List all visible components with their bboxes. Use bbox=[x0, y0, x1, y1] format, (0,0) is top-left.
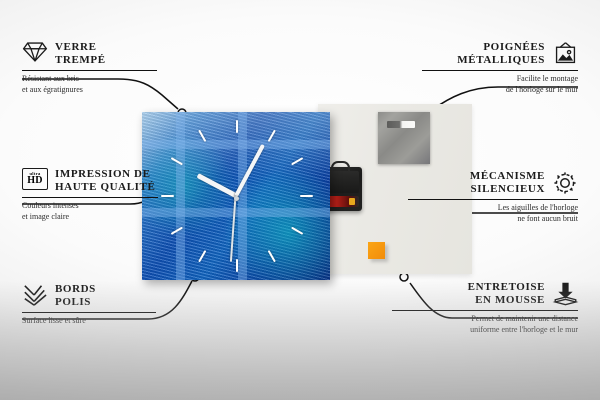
pattern-band bbox=[142, 140, 330, 149]
callout-sub-line2: et image claire bbox=[22, 212, 197, 223]
callout-title-line1: POIGNÉES bbox=[483, 41, 545, 53]
callout-title-line2: EN MOUSSE bbox=[475, 294, 545, 306]
callout-title-line1: IMPRESSION DE bbox=[55, 168, 151, 180]
gear-icon bbox=[552, 170, 578, 196]
second-hand bbox=[231, 196, 237, 262]
foam-spacer-arrow-icon bbox=[552, 281, 578, 307]
hour-marker bbox=[291, 227, 303, 235]
callout-title-line2: MÉTALLIQUES bbox=[457, 54, 545, 66]
diamond-icon bbox=[22, 41, 48, 67]
callout-divider bbox=[422, 70, 578, 71]
callout-sub-line1: Facilite le montage bbox=[396, 74, 578, 85]
callout-entretoise-en-mousse: ENTRETOISE EN MOUSSE Permet de maintenir… bbox=[378, 281, 578, 335]
callout-title-line1: BORDS bbox=[55, 283, 96, 295]
callout-sub-line1: Les aiguilles de l'horloge bbox=[392, 203, 578, 214]
foam-spacer bbox=[368, 242, 385, 259]
callout-divider bbox=[22, 70, 157, 71]
hour-marker bbox=[268, 250, 276, 262]
callout-impression-haute-qualite: ultra HD IMPRESSION DE HAUTE QUALITÉ Cou… bbox=[22, 168, 197, 222]
metal-hanger-plate bbox=[378, 112, 430, 164]
hour-marker bbox=[300, 195, 313, 197]
center-pin bbox=[234, 196, 239, 201]
callout-title-line1: MÉCANISME bbox=[470, 170, 545, 182]
hour-marker bbox=[198, 250, 206, 262]
callout-bords-polis: BORDS POLIS Surface lisse et sûre bbox=[22, 283, 182, 327]
hour-marker bbox=[236, 259, 238, 272]
callout-title-line1: VERRE bbox=[55, 41, 97, 53]
callout-title-line2: TREMPÉ bbox=[55, 54, 106, 66]
callout-sub-line1: Résistant aux bris bbox=[22, 74, 182, 85]
callout-sub-line1: Couleurs intenses bbox=[22, 201, 197, 212]
callout-title-line2: POLIS bbox=[55, 296, 91, 308]
callout-sub-line2: uniforme entre l'horloge et le mur bbox=[378, 325, 578, 336]
callout-verre-trempe: VERRE TREMPÉ Résistant aux bris et aux é… bbox=[22, 41, 182, 95]
callout-mecanisme-silencieux: MÉCANISME SILENCIEUX Les aiguilles de l'… bbox=[392, 170, 578, 224]
callout-sub-line2: ne font aucun bruit bbox=[392, 214, 578, 225]
callout-divider bbox=[22, 312, 156, 313]
callout-title-line1: ENTRETOISE bbox=[468, 281, 545, 293]
ultra-hd-icon: ultra HD bbox=[22, 168, 48, 194]
callout-divider bbox=[408, 199, 578, 200]
callout-divider bbox=[22, 197, 158, 198]
ultra-hd-large-text: HD bbox=[27, 176, 43, 186]
callout-sub-line1: Surface lisse et sûre bbox=[22, 316, 182, 327]
hanger-slot bbox=[387, 121, 415, 128]
hour-marker bbox=[236, 120, 238, 133]
callout-sub-line1: Permet de maintenir une distance bbox=[378, 314, 578, 325]
callout-title-line2: SILENCIEUX bbox=[471, 183, 545, 195]
callout-poignees-metalliques: POIGNÉES MÉTALLIQUES Facilite le montage… bbox=[396, 41, 578, 95]
callout-title-line2: HAUTE QUALITÉ bbox=[55, 181, 155, 193]
pattern-band bbox=[238, 112, 247, 280]
callout-sub-line2: et aux égratignures bbox=[22, 85, 182, 96]
infographic-stage: VERRE TREMPÉ Résistant aux bris et aux é… bbox=[0, 0, 600, 400]
polished-edges-icon bbox=[22, 283, 48, 309]
picture-frame-hanger-icon bbox=[552, 41, 578, 67]
mechanism-hook bbox=[331, 161, 350, 171]
callout-sub-line2: de l'horloge sur le mur bbox=[396, 85, 578, 96]
callout-divider bbox=[392, 310, 578, 311]
